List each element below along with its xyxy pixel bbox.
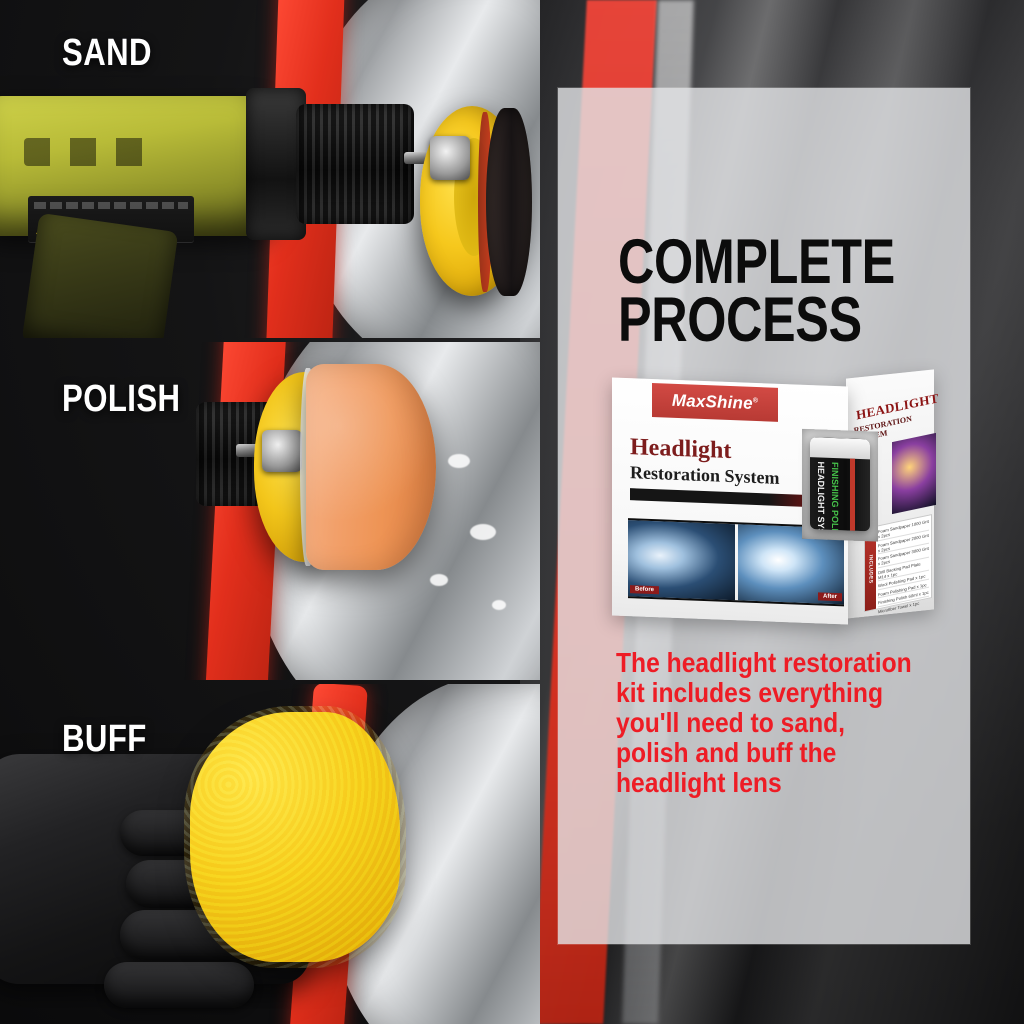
polish-compound-splatter (470, 524, 496, 540)
before-photo: Before (628, 520, 735, 600)
disc-hub-icon (262, 430, 302, 472)
step-label-sand: SAND (62, 32, 152, 75)
step-label-polish: POLISH (62, 378, 180, 421)
bottle-polish-name: FINISHING POLISH (830, 462, 840, 532)
side-panel-photo (892, 433, 936, 514)
before-label: Before (630, 585, 659, 594)
yellow-microfiber-towel-icon (190, 712, 400, 962)
product-box-front-panel: MaxShine® Headlight Restoration System B… (612, 377, 848, 624)
drill-grip-icon (22, 213, 179, 338)
brand-logo: MaxShine® (652, 383, 778, 422)
disc-hub-icon (430, 136, 470, 180)
orange-foam-polishing-pad-icon (306, 364, 436, 570)
process-photo-column: 2 4 6 (0, 0, 540, 1024)
promo-image: 2 4 6 (0, 0, 1024, 1024)
box-display-window: HEADLIGHT SYSTEM FINISHING POLISH (802, 429, 878, 542)
bottle-product-line: HEADLIGHT SYSTEM (816, 461, 826, 531)
product-box: HEADLIGHT RESTORATION SYSTEM INCLUDES Fo… (598, 372, 940, 624)
polish-compound-splatter (448, 454, 470, 468)
step-label-buff: BUFF (62, 718, 147, 761)
sanding-disc-face (486, 108, 532, 296)
marketing-blurb: The headlight restoration kit includes e… (616, 648, 915, 798)
drill-chuck-icon (296, 104, 414, 224)
includes-list: Foam Sandpaper 1000 Grit x 2pcs Foam San… (876, 515, 931, 609)
product-title-rule (630, 488, 828, 508)
bottle-cap-icon (810, 437, 870, 459)
polish-compound-splatter (430, 574, 448, 586)
registered-trademark-icon: ® (753, 397, 758, 404)
bottle-stripe (850, 459, 855, 531)
polish-compound-splatter (492, 600, 506, 610)
polish-bottle: HEADLIGHT SYSTEM FINISHING POLISH (810, 437, 870, 531)
after-label: After (818, 592, 842, 601)
glove-finger (104, 962, 254, 1008)
headline-line-2: PROCESS (618, 292, 906, 350)
brand-name: MaxShine® (672, 391, 758, 414)
drill-vents-icon (24, 138, 154, 166)
